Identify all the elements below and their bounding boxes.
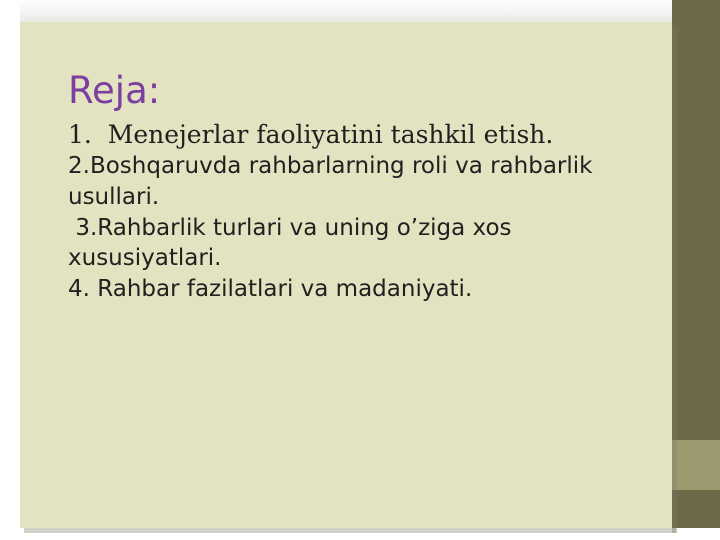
slide-title: Reja: — [68, 70, 668, 111]
agenda-item-1: 1. Menejerlar faoliyatini tashkil etish. — [68, 119, 668, 151]
panel-shadow-right — [672, 26, 677, 533]
content-block: Reja: 1. Menejerlar faoliyatini tashkil … — [68, 70, 668, 304]
slide-canvas: Reja: 1. Menejerlar faoliyatini tashkil … — [0, 0, 720, 540]
agenda-list: 1. Menejerlar faoliyatini tashkil etish.… — [68, 119, 668, 304]
agenda-item-3: 3.Rahbarlik turlari va uning o’ziga xos … — [68, 213, 668, 274]
panel-shadow-bottom — [24, 528, 676, 533]
right-band-accent-notch — [672, 440, 720, 490]
top-gradient-strip — [0, 0, 672, 22]
agenda-item-4: 4. Rahbar fazilatlari va madaniyati. — [68, 274, 668, 305]
agenda-item-2: 2.Boshqaruvda rahbarlarning roli va rahb… — [68, 151, 668, 212]
left-margin-strip — [0, 0, 20, 540]
right-band-bottom-gap — [672, 528, 720, 540]
content-panel: Reja: 1. Menejerlar faoliyatini tashkil … — [20, 22, 672, 528]
